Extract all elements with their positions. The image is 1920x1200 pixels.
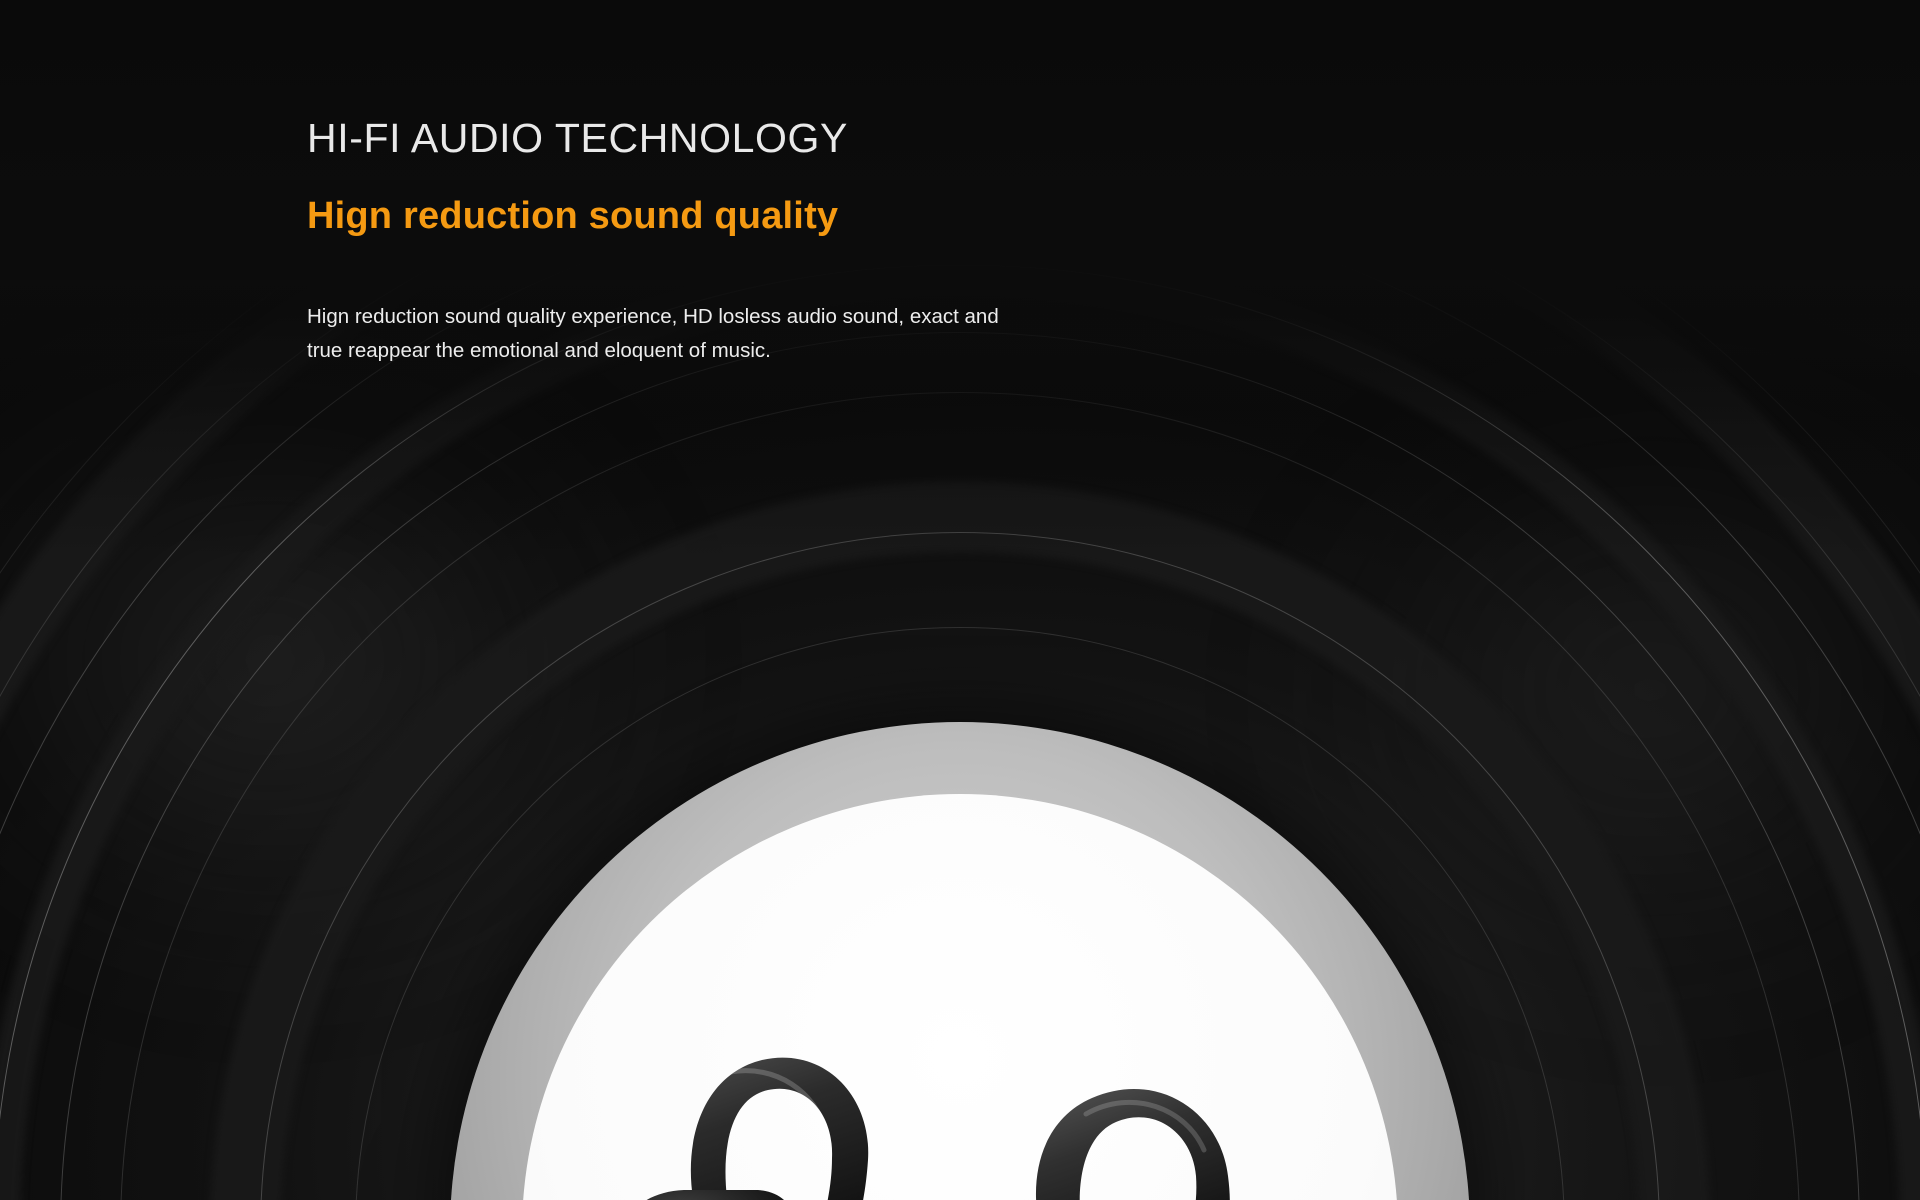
body-paragraph-line-1: Hign reduction sound quality experience,… <box>307 300 1107 334</box>
body-paragraph: Hign reduction sound quality experience,… <box>307 300 1107 368</box>
eyebrow-heading: HI-FI AUDIO TECHNOLOGY <box>307 110 1207 166</box>
product-banner: HI-FI AUDIO TECHNOLOGY Hign reduction so… <box>0 0 1920 1200</box>
background-glow-right <box>1240 330 1920 1050</box>
page-title: Hign reduction sound quality <box>307 188 1207 244</box>
body-paragraph-line-2: true reappear the emotional and eloquent… <box>307 334 1107 368</box>
copy-block: HI-FI AUDIO TECHNOLOGY Hign reduction so… <box>307 110 1207 368</box>
